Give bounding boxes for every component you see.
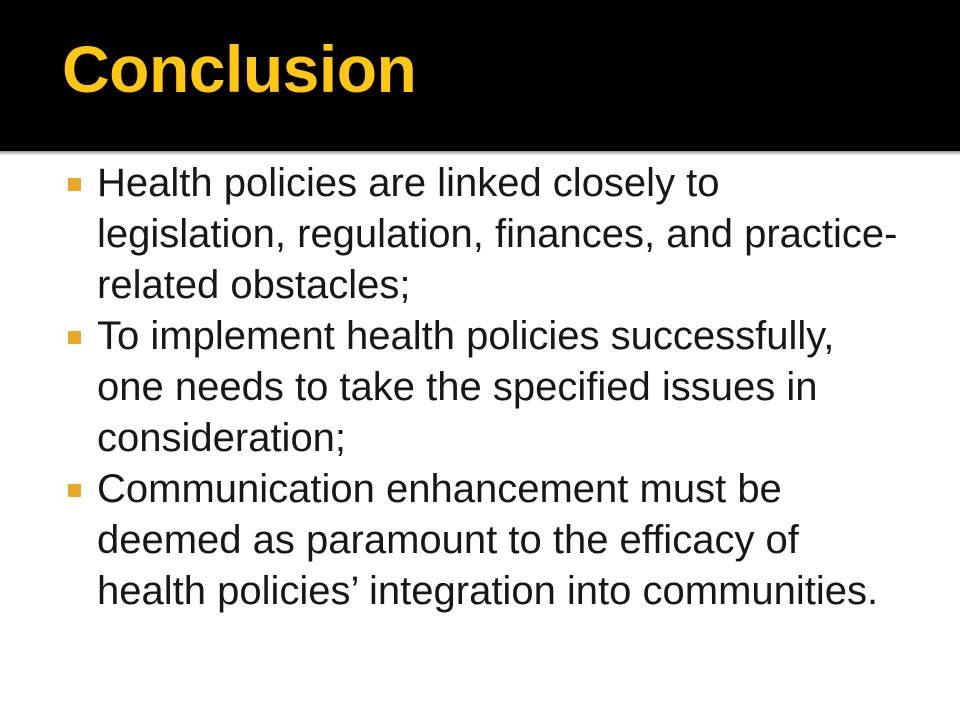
square-bullet-icon xyxy=(68,178,81,191)
square-bullet-icon xyxy=(68,484,81,497)
bullet-list: Health policies are linked closely to le… xyxy=(0,158,960,617)
list-item: To implement health policies successfull… xyxy=(0,311,960,464)
list-item: Health policies are linked closely to le… xyxy=(0,158,960,311)
slide-body: Health policies are linked closely to le… xyxy=(0,158,960,720)
presentation-slide: Conclusion Health policies are linked cl… xyxy=(0,0,960,720)
list-item-text: Health policies are linked closely to le… xyxy=(97,158,905,311)
list-item-text: Communication enhancement must be deemed… xyxy=(97,464,905,617)
title-band: Conclusion xyxy=(0,0,960,151)
list-item: Communication enhancement must be deemed… xyxy=(0,464,960,617)
page-title: Conclusion xyxy=(62,36,416,102)
title-divider xyxy=(0,151,960,155)
square-bullet-icon xyxy=(68,331,81,344)
list-item-text: To implement health policies successfull… xyxy=(97,311,905,464)
